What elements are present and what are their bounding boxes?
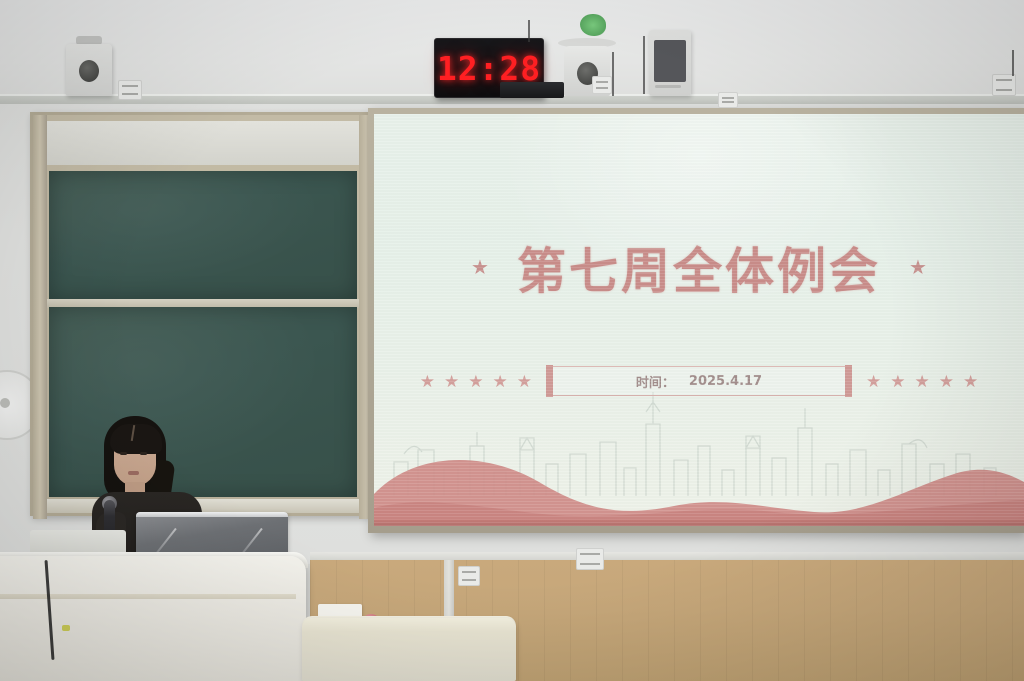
presenter-fringe — [110, 424, 162, 454]
power-outlet-icon — [592, 76, 612, 94]
wall-switch-icon — [458, 566, 480, 586]
clock-shelf-device — [500, 82, 564, 98]
star-icon: ★ — [471, 258, 489, 278]
star-icon: ★ — [963, 373, 978, 390]
power-outlet-icon — [118, 80, 142, 100]
blackboard-panel-upper — [49, 171, 357, 299]
star-icon: ★ — [939, 373, 954, 390]
blackboard-top-track — [41, 121, 359, 165]
panel-speaker-cable — [643, 36, 645, 94]
blackboard-side-left — [33, 115, 47, 519]
star-icon: ★ — [444, 373, 459, 390]
presenter-eye-left — [120, 452, 127, 455]
slide-title: 第七周全体例会 — [517, 232, 881, 303]
star-icon: ★ — [915, 373, 930, 390]
presenter-mouth — [128, 471, 139, 475]
star-icon: ★ — [493, 373, 508, 390]
star-icon: ★ — [420, 373, 435, 390]
date-value: 2025.4.17 — [689, 374, 762, 389]
star-icon: ★ — [890, 373, 905, 390]
side-table — [302, 618, 516, 681]
classroom-scene: ★ 第七周全体例会 ★ ★ ★ ★ ★ ★ 时间： 2025.4.17 ★ — [0, 0, 1024, 681]
podium-trim — [0, 594, 296, 599]
presenter-eye-right — [140, 452, 147, 455]
hills-graphic — [374, 434, 1024, 526]
star-icon: ★ — [909, 258, 927, 278]
power-outlet-icon — [576, 548, 604, 570]
power-outlet-icon — [992, 74, 1016, 96]
presentation-slide: ★ 第七周全体例会 ★ ★ ★ ★ ★ ★ 时间： 2025.4.17 ★ — [374, 114, 1024, 526]
green-decoration-icon — [580, 14, 606, 36]
date-label: 时间： — [636, 372, 675, 391]
star-icon: ★ — [866, 373, 881, 390]
clock-antenna — [528, 20, 530, 42]
panel-speaker-led — [655, 85, 681, 88]
slide-bottom-strip — [374, 519, 1024, 526]
star-icon: ★ — [517, 373, 532, 390]
wall-speaker-left-icon — [66, 44, 112, 96]
slide-date-row: ★ ★ ★ ★ ★ 时间： 2025.4.17 ★ ★ ★ ★ ★ — [374, 366, 1024, 396]
speaker-cable — [612, 52, 614, 96]
star-icon: ★ — [468, 373, 483, 390]
monitor-bezel — [136, 512, 288, 517]
star-group-left: ★ ★ ★ ★ ★ — [420, 373, 532, 390]
cable-tie — [62, 625, 70, 631]
slide-date-box: 时间： 2025.4.17 — [546, 366, 852, 396]
star-group-right: ★ ★ ★ ★ ★ — [866, 373, 978, 390]
slide-title-row: ★ 第七周全体例会 ★ — [374, 232, 1024, 303]
outlet-cable — [1012, 50, 1014, 76]
projection-screen: ★ 第七周全体例会 ★ ★ ★ ★ ★ ★ 时间： 2025.4.17 ★ — [368, 108, 1024, 533]
power-outlet-icon — [718, 92, 738, 108]
